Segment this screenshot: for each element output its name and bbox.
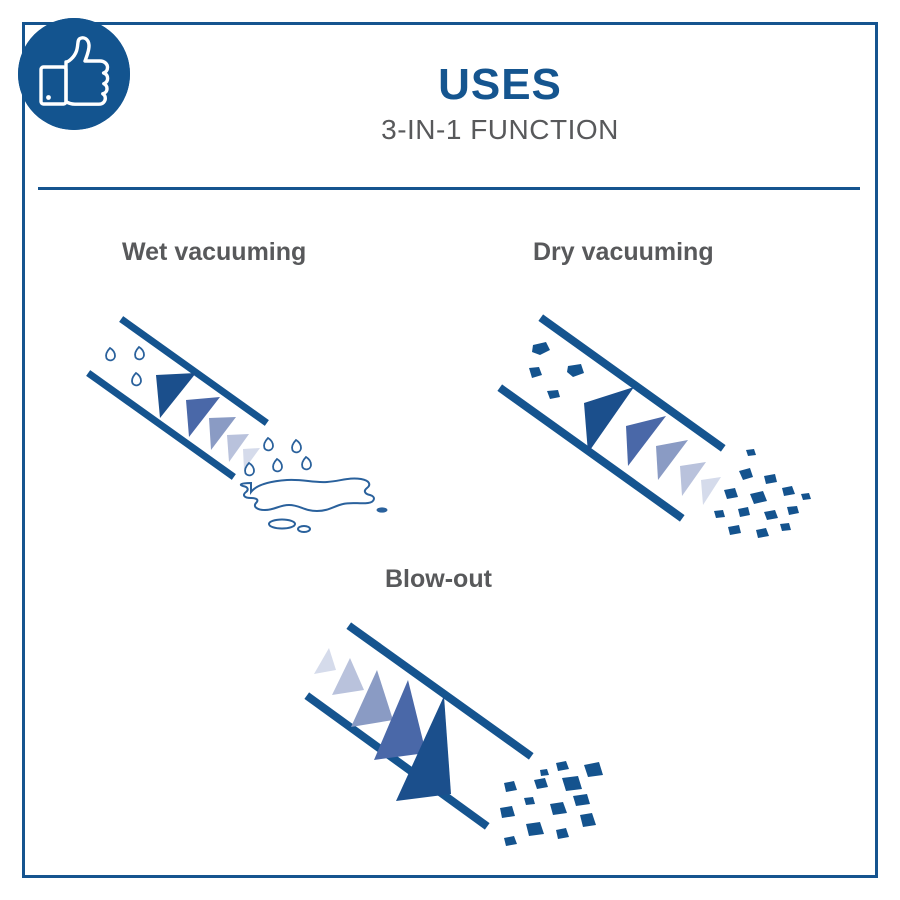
dry-vacuuming-illustration bbox=[488, 298, 833, 553]
thumbs-up-icon bbox=[18, 18, 130, 130]
panel-label-blow: Blow-out bbox=[385, 565, 492, 594]
flow-arrows bbox=[584, 387, 721, 505]
header: USES 3-IN-1 FUNCTION bbox=[140, 62, 860, 146]
page-subtitle: 3-IN-1 FUNCTION bbox=[140, 114, 860, 146]
wet-vacuuming-illustration bbox=[78, 305, 418, 540]
debris-outlet bbox=[714, 449, 811, 538]
debris-inlet bbox=[529, 342, 584, 399]
page-title: USES bbox=[140, 62, 860, 108]
panel-label-dry: Dry vacuuming bbox=[533, 238, 714, 267]
header-divider bbox=[38, 187, 860, 190]
panel-label-wet: Wet vacuuming bbox=[122, 238, 306, 267]
water-droplets-outlet bbox=[245, 438, 311, 475]
tube-walls bbox=[91, 321, 264, 475]
water-droplets-inlet bbox=[106, 347, 144, 385]
flow-arrows bbox=[314, 648, 451, 801]
debris-outlet bbox=[500, 761, 603, 846]
infographic-canvas: USES 3-IN-1 FUNCTION Wet vacuuming Dry v… bbox=[0, 0, 900, 900]
water-puddle bbox=[241, 478, 388, 532]
thumbs-up-badge bbox=[18, 18, 130, 130]
blow-out-illustration bbox=[288, 608, 633, 863]
